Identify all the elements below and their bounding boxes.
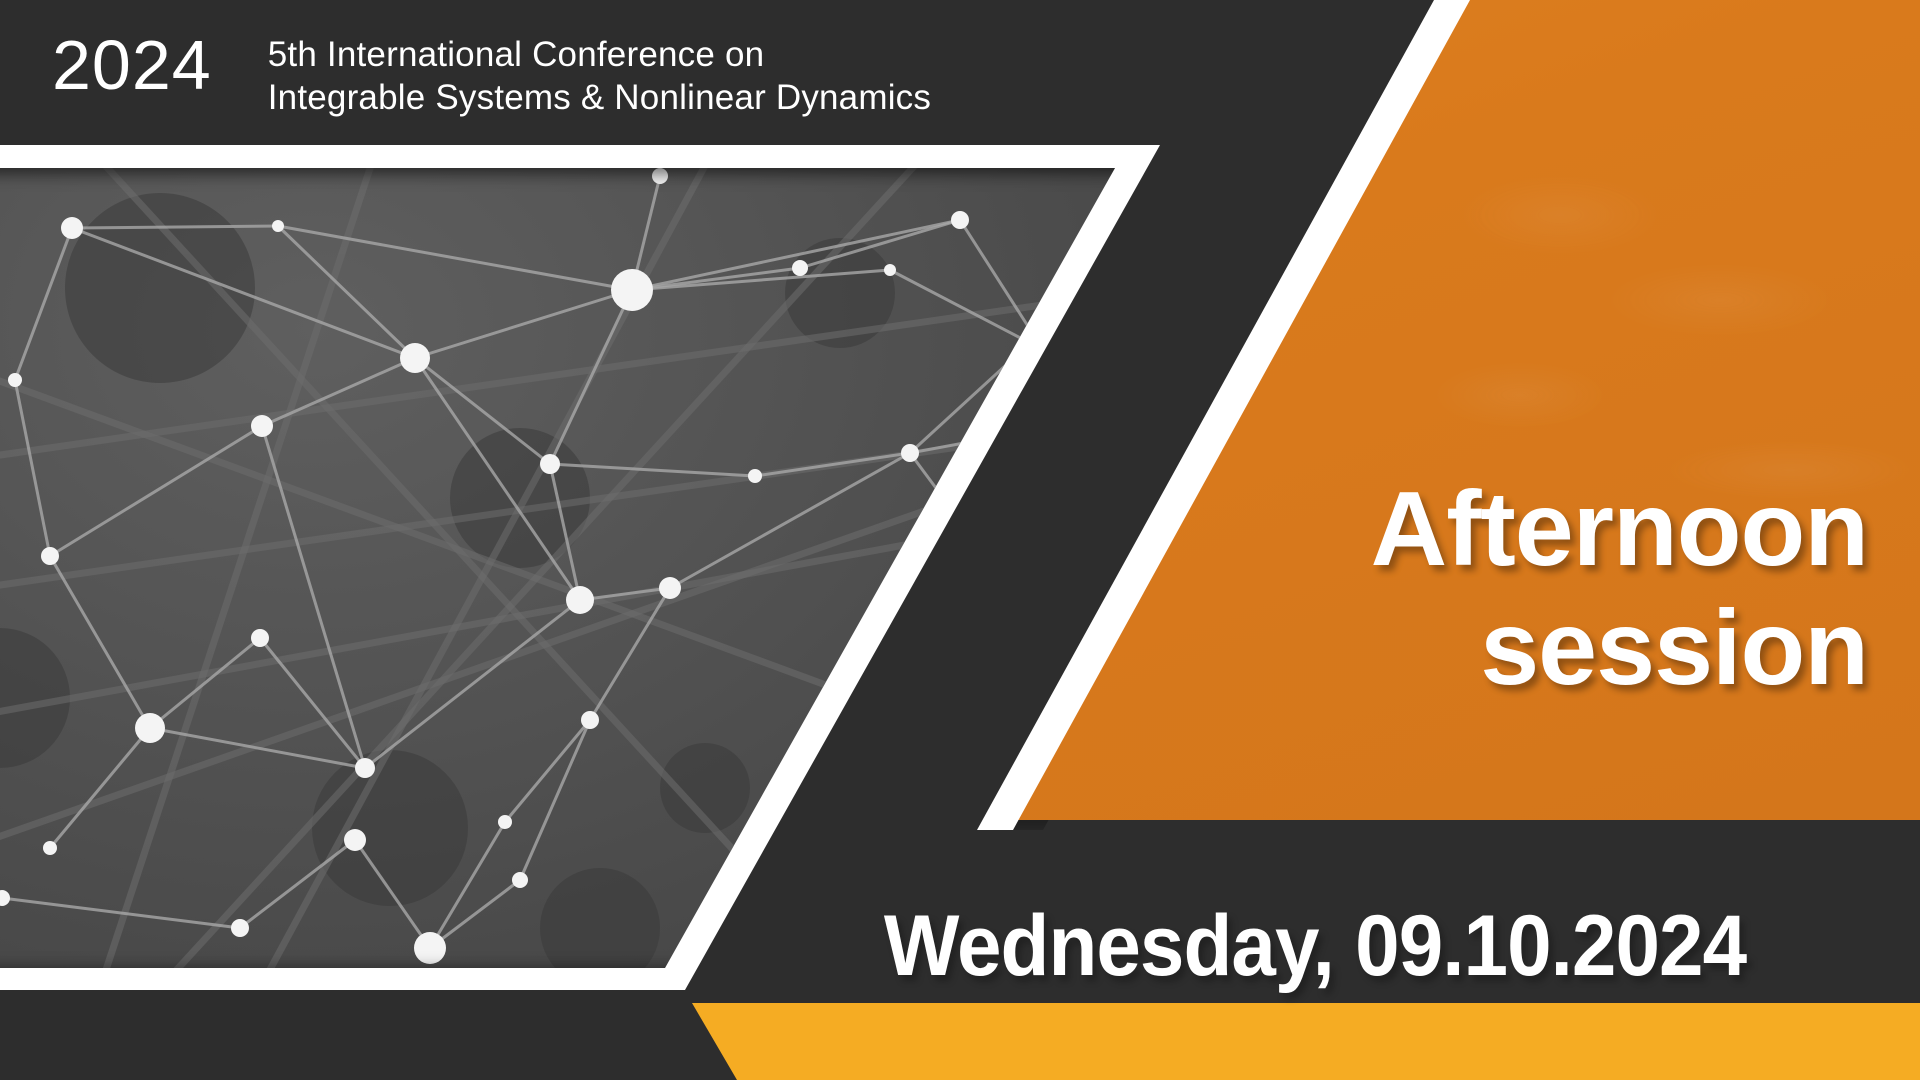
conference-title: 5th International Conference on Integrab…	[268, 34, 931, 119]
conference-banner: 2024 5th International Conference on Int…	[0, 0, 1920, 1080]
year-label: 2024	[52, 30, 212, 100]
conference-title-line2: Integrable Systems & Nonlinear Dynamics	[268, 77, 931, 120]
date-label: Wednesday, 09.10.2024	[799, 903, 1831, 989]
session-title-line1: Afternoon	[1371, 470, 1868, 588]
conference-title-line1: 5th International Conference on	[268, 35, 765, 74]
session-title-line2: session	[1148, 589, 1868, 708]
session-title: Afternoon session	[1148, 470, 1868, 707]
